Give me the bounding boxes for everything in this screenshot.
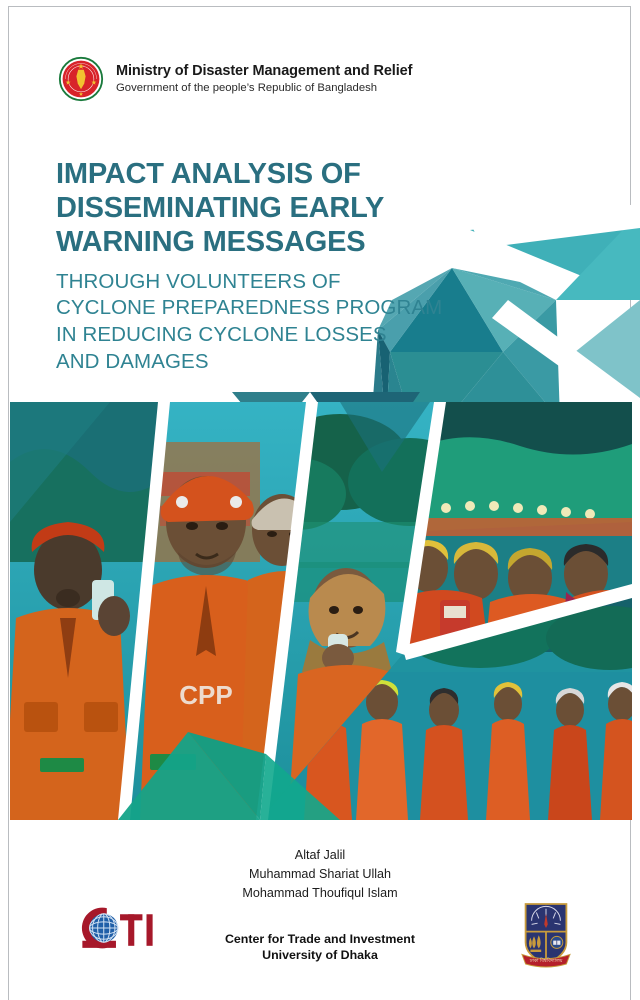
subtitle-line-3: IN REDUCING CYCLONE LOSSES <box>56 322 476 349</box>
svg-text:ঢাকা বিশ্ববিদ্যালয়: ঢাকা বিশ্ববিদ্যালয় <box>529 958 564 964</box>
document-header: Ministry of Disaster Management and Reli… <box>58 56 412 102</box>
author-list: Altaf Jalil Muhammad Shariat Ullah Moham… <box>0 846 640 903</box>
cpp-volunteers-photo-collage-icon: CPP <box>10 402 632 820</box>
author-2: Muhammad Shariat Ullah <box>0 865 640 884</box>
subtitle-line-1: THROUGH VOLUNTEERS OF <box>56 269 476 296</box>
cti-globe-logo-icon <box>66 900 170 956</box>
svg-text:CPP: CPP <box>179 680 232 710</box>
title-line-2: DISSEMINATING EARLY <box>56 192 476 226</box>
subtitle-block: THROUGH VOLUNTEERS OF CYCLONE PREPAREDNE… <box>56 269 476 376</box>
bangladesh-government-emblem-icon <box>58 56 104 102</box>
cover-page: Ministry of Disaster Management and Reli… <box>0 0 640 1000</box>
collage-graphic: CPP <box>10 402 632 820</box>
ministry-name: Ministry of Disaster Management and Reli… <box>116 63 412 81</box>
government-line: Government of the people’s Republic of B… <box>116 81 412 95</box>
subtitle-line-4: AND DAMAGES <box>56 349 476 376</box>
subtitle-line-2: CYCLONE PREPAREDNESS PROGRAM <box>56 295 476 322</box>
title-line-3: WARNING MESSAGES <box>56 226 476 260</box>
university-of-dhaka-crest-icon: ঢাকা বিশ্ববিদ্যালয় <box>516 898 576 970</box>
title-line-1: IMPACT ANALYSIS OF <box>56 158 476 192</box>
title-block: IMPACT ANALYSIS OF DISSEMINATING EARLY W… <box>56 158 476 375</box>
author-1: Altaf Jalil <box>0 846 640 865</box>
